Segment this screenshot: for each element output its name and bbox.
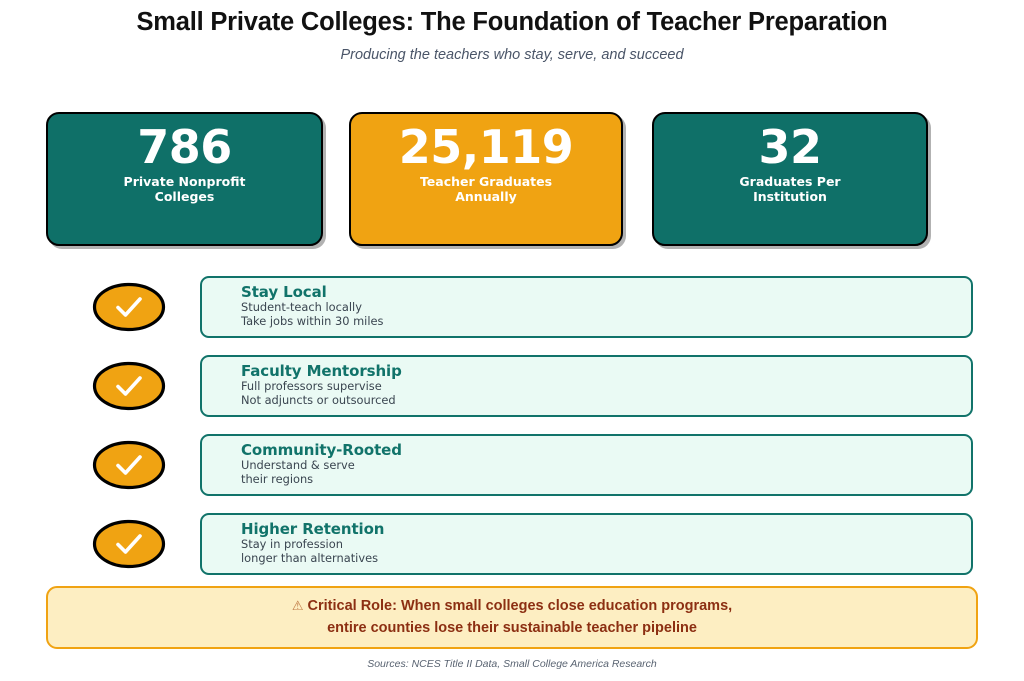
feature-row: Stay Local Student-teach locally Take jo…	[0, 276, 1024, 338]
feature-panel: Stay Local Student-teach locally Take jo…	[200, 276, 973, 338]
header: Small Private Colleges: The Foundation o…	[0, 0, 1024, 63]
feature-row: Higher Retention Stay in profession long…	[0, 513, 1024, 575]
feature-title: Faculty Mentorship	[241, 363, 971, 380]
feature-description: Full professors supervise Not adjuncts o…	[241, 380, 971, 407]
stat-label: Graduates Per Institution	[654, 174, 926, 205]
feature-description: Student-teach locally Take jobs within 3…	[241, 301, 971, 328]
stat-card-private-nonprofit-colleges: 786 Private Nonprofit Colleges	[46, 112, 323, 246]
stat-card-teacher-graduates-annually: 25,119 Teacher Graduates Annually	[349, 112, 623, 246]
stat-value: 786	[48, 123, 321, 172]
page-subtitle: Producing the teachers who stay, serve, …	[0, 37, 1024, 63]
stat-value: 25,119	[351, 123, 621, 172]
feature-title: Community-Rooted	[241, 442, 971, 459]
feature-panel: Community-Rooted Understand & serve thei…	[200, 434, 973, 496]
warning-icon: ⚠	[292, 599, 304, 614]
stat-value: 32	[654, 123, 926, 172]
feature-row: Community-Rooted Understand & serve thei…	[0, 434, 1024, 496]
callout-message: Critical Role: When small colleges close…	[308, 598, 733, 635]
stat-card-graduates-per-institution: 32 Graduates Per Institution	[652, 112, 928, 246]
sources-note: Sources: NCES Title II Data, Small Colle…	[0, 658, 1024, 670]
feature-description: Stay in profession longer than alternati…	[241, 538, 971, 565]
callout-text: ⚠ Critical Role: When small colleges clo…	[292, 596, 732, 638]
checkmark-icon	[92, 440, 166, 490]
critical-role-callout: ⚠ Critical Role: When small colleges clo…	[46, 586, 978, 649]
stat-label: Teacher Graduates Annually	[351, 174, 621, 205]
stat-card-group: 786 Private Nonprofit Colleges 25,119 Te…	[46, 112, 978, 246]
checkmark-icon	[92, 361, 166, 411]
feature-title: Higher Retention	[241, 521, 971, 538]
feature-title: Stay Local	[241, 284, 971, 301]
page-title: Small Private Colleges: The Foundation o…	[0, 0, 1024, 37]
feature-panel: Higher Retention Stay in profession long…	[200, 513, 973, 575]
feature-row: Faculty Mentorship Full professors super…	[0, 355, 1024, 417]
checkmark-icon	[92, 519, 166, 569]
feature-panel: Faculty Mentorship Full professors super…	[200, 355, 973, 417]
stat-label: Private Nonprofit Colleges	[48, 174, 321, 205]
checkmark-icon	[92, 282, 166, 332]
feature-description: Understand & serve their regions	[241, 459, 971, 486]
